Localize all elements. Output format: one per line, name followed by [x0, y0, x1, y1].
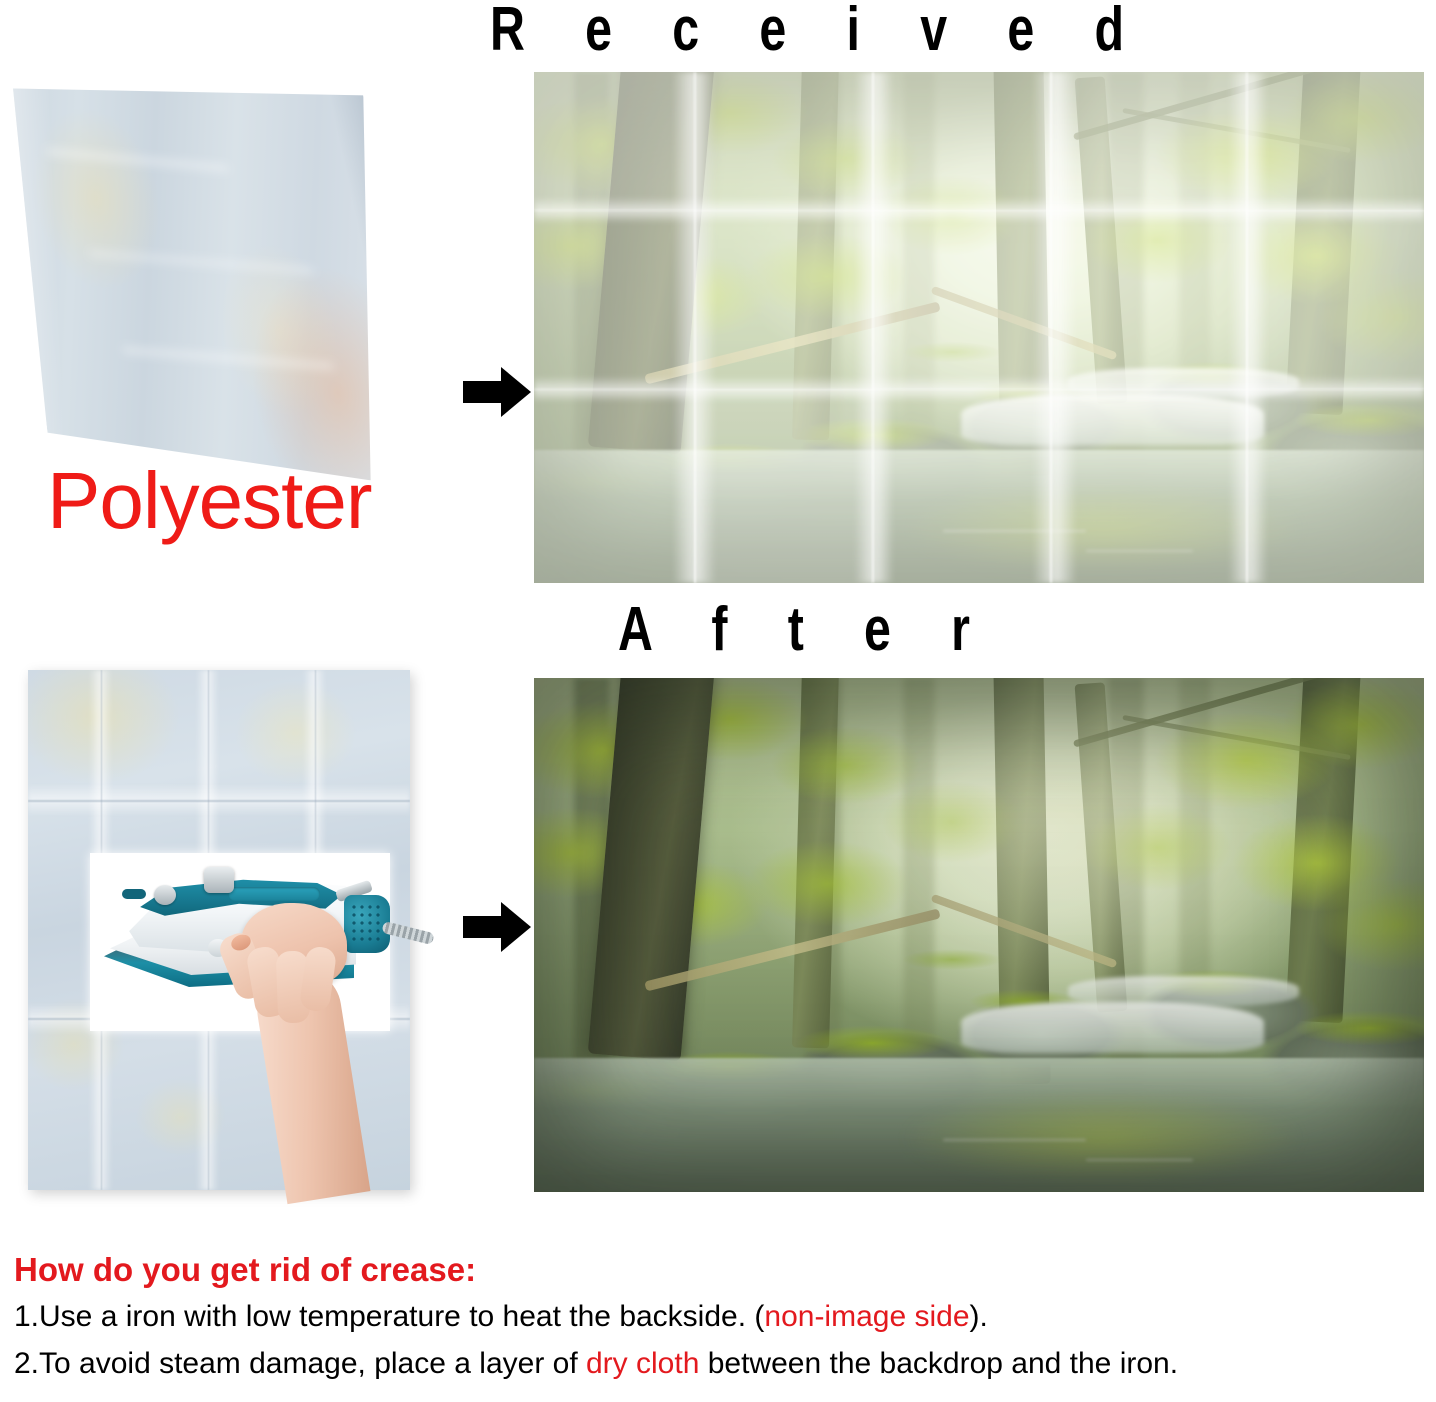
- iron-spray-nozzle: [122, 889, 146, 899]
- step2-tail: between the backdrop and the iron.: [699, 1347, 1178, 1380]
- material-label: Polyester: [47, 455, 371, 547]
- iron-handle-slot: [228, 887, 320, 901]
- step2-highlight: dry cloth: [586, 1347, 699, 1380]
- received-backdrop-image: [534, 72, 1424, 583]
- arrow-shaft: [463, 916, 503, 938]
- hand-icon: [215, 903, 385, 1193]
- arrow-shaft: [463, 381, 503, 403]
- fabric-edge-shading: [2, 79, 413, 488]
- page-title-after: A f t e r: [618, 594, 993, 665]
- instructions-block: How do you get rid of crease: 1.Use a ir…: [14, 1251, 1424, 1383]
- arrow-head: [501, 367, 531, 417]
- step1-highlight: non-image side: [764, 1300, 969, 1333]
- step1-tail: ).: [970, 1300, 988, 1333]
- arrow-head: [501, 902, 531, 952]
- page-title-received: R e c e i v e d: [490, 0, 1147, 65]
- instruction-step-2: 2.To avoid steam damage, place a layer o…: [14, 1344, 1424, 1383]
- after-saturation-tone: [534, 678, 1424, 1192]
- iron-burst-button: [204, 867, 234, 893]
- received-wash: [534, 72, 1424, 583]
- instructions-title: How do you get rid of crease:: [14, 1251, 1424, 1289]
- iron-steam-button: [154, 885, 176, 905]
- fabric-fold-line: [28, 800, 410, 802]
- folded-fabric-photo: [2, 79, 413, 488]
- instruction-step-1: 1.Use a iron with low temperature to hea…: [14, 1297, 1424, 1336]
- after-backdrop-image: [534, 678, 1424, 1192]
- step2-lead: 2.To avoid steam damage, place a layer o…: [14, 1347, 586, 1380]
- step1-lead: 1.Use a iron with low temperature to hea…: [14, 1300, 764, 1333]
